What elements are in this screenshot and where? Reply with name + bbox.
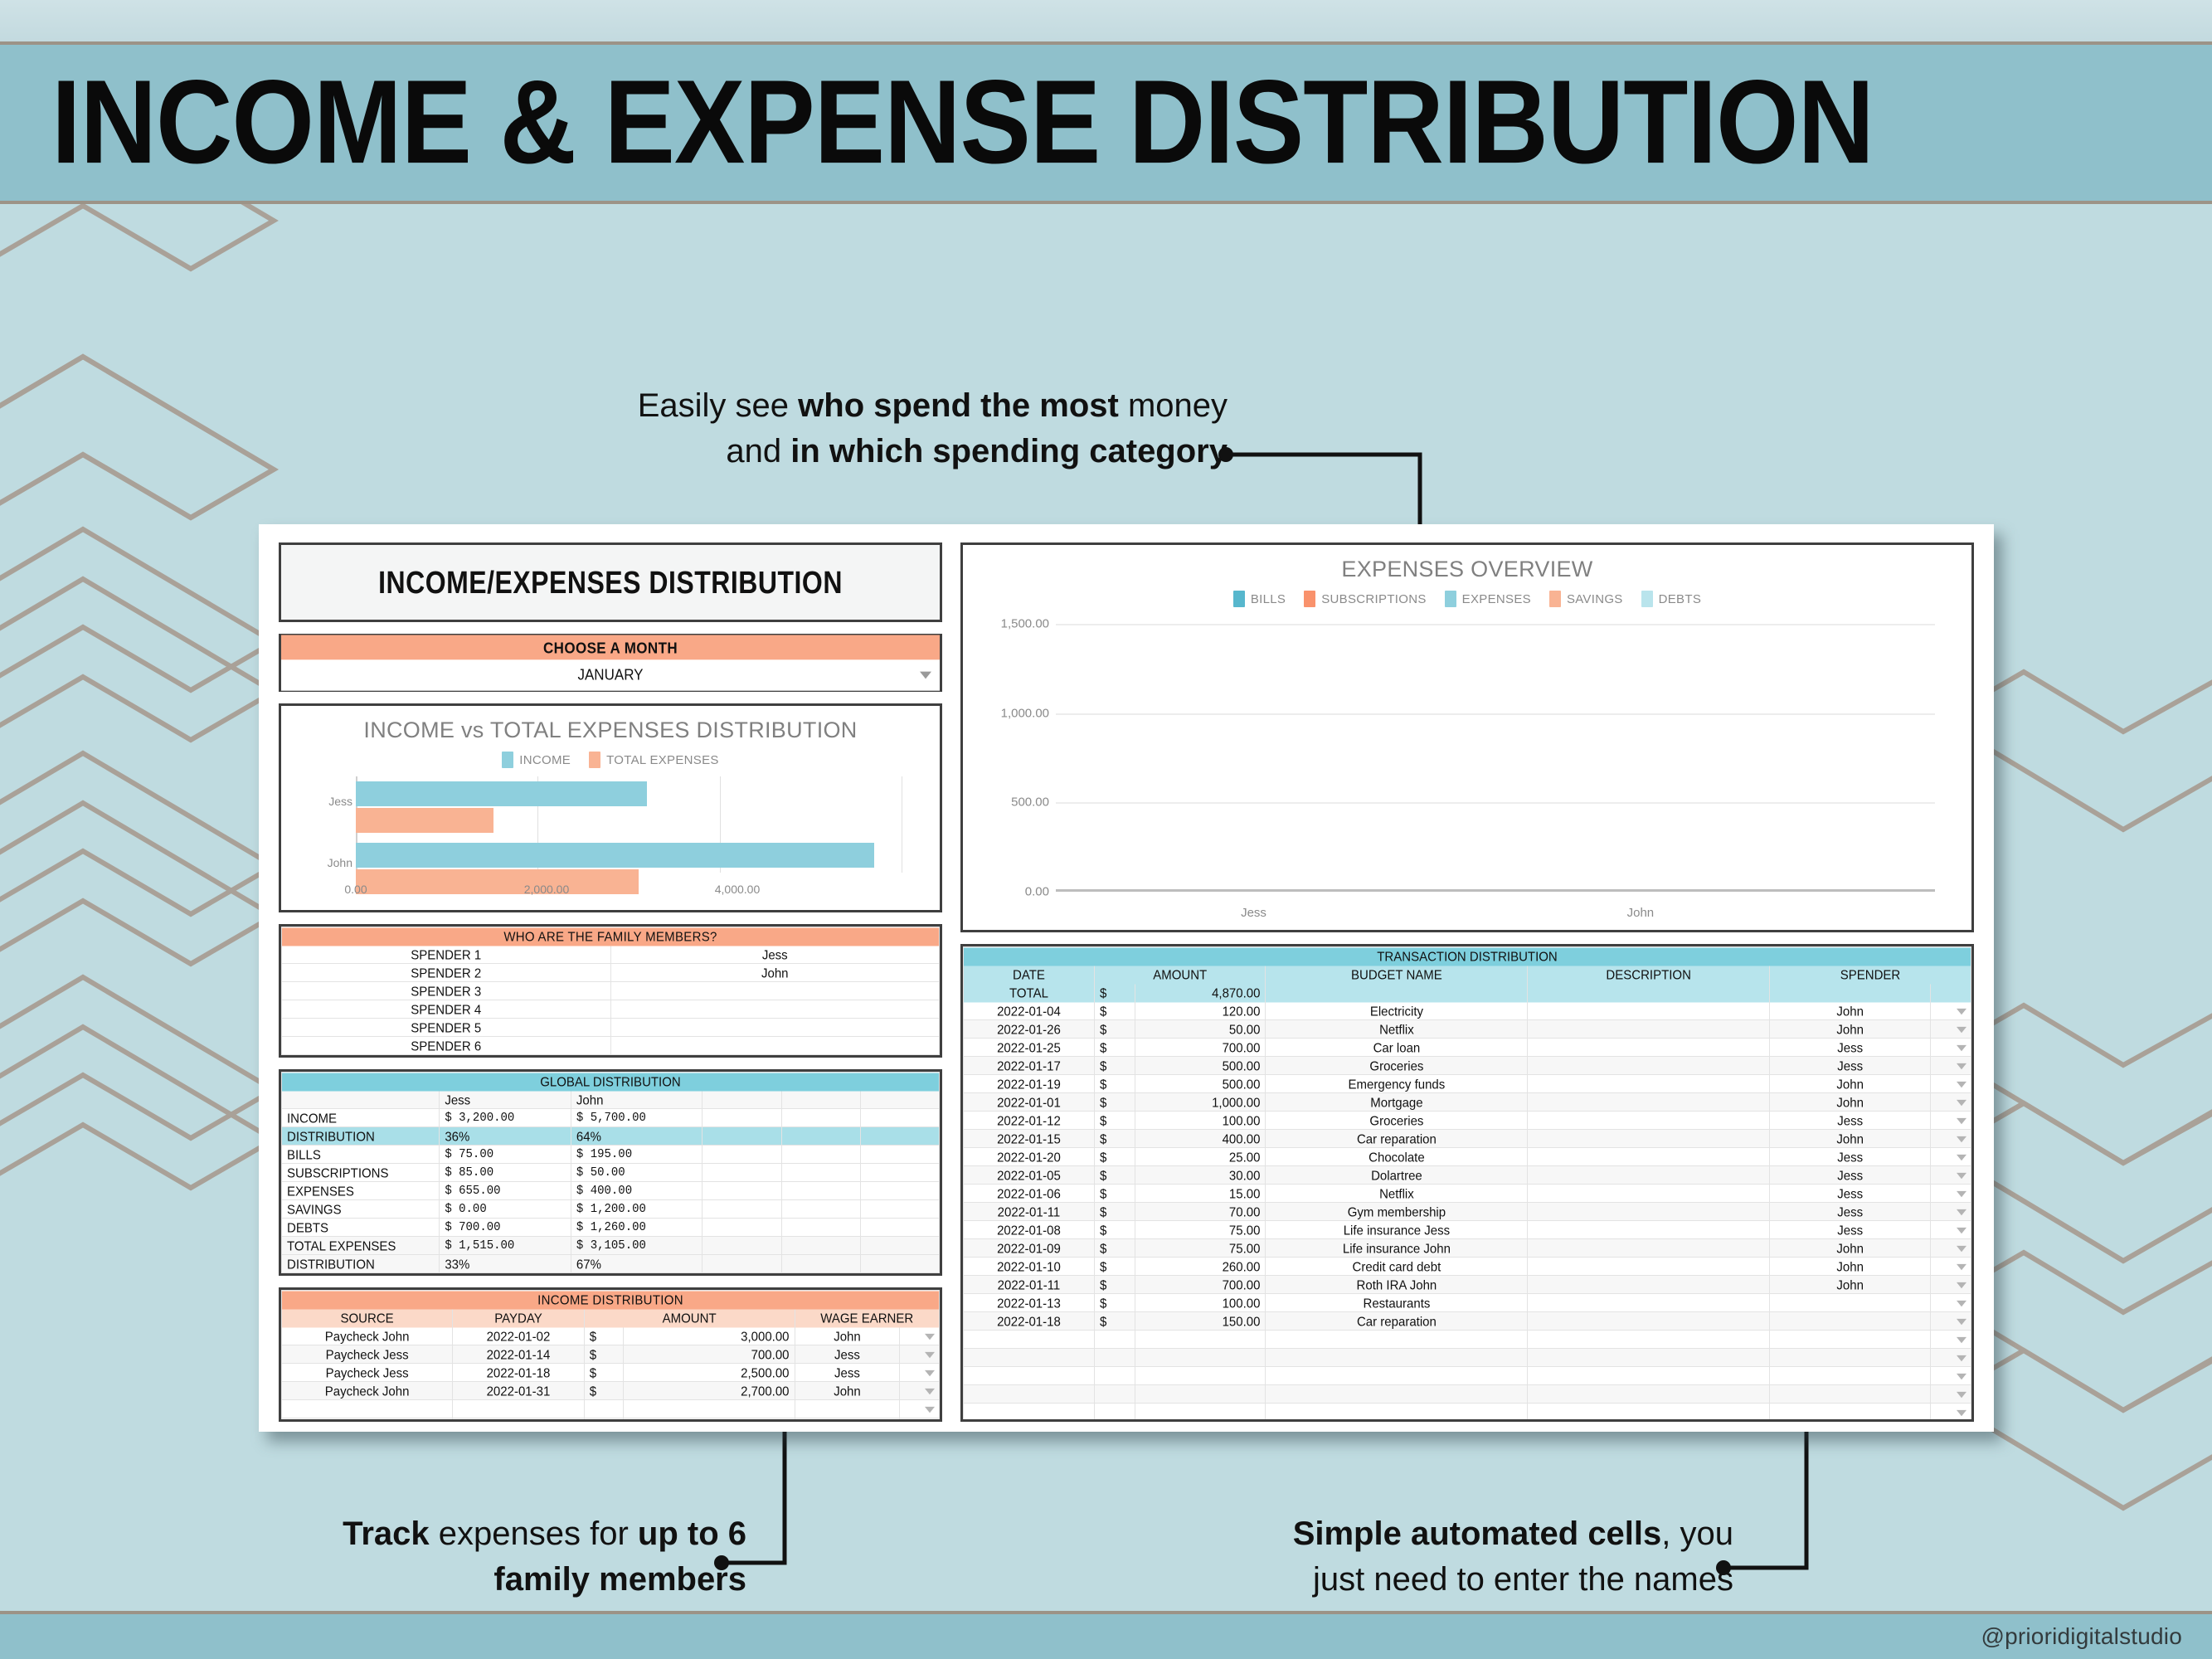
inc-earner[interactable]: John	[795, 1326, 900, 1345]
tx-desc[interactable]	[1528, 1311, 1770, 1331]
chevron-down-icon[interactable]	[920, 672, 931, 679]
inc-amount[interactable]: 2,700.00	[624, 1381, 795, 1400]
tx-amount[interactable]: 700.00	[1135, 1275, 1266, 1294]
table-row: DISTRIBUTION 36% 64%	[282, 1127, 940, 1146]
hbar-category-label: John	[304, 856, 352, 869]
inc-amount[interactable]: 2,500.00	[624, 1363, 795, 1382]
tx-currency: $	[1094, 1092, 1135, 1112]
table-row: 2022-01-04$120.00Electricity John	[964, 1002, 1971, 1020]
spender-label: SPENDER 1	[282, 945, 611, 964]
total-currency: $	[1094, 983, 1135, 1002]
tx-budget[interactable]: Dolartree	[1266, 1165, 1528, 1185]
tx-currency: $	[1094, 1019, 1135, 1039]
callout-top-line1: Easily see who spend the most money	[464, 383, 1228, 429]
tx-amount[interactable]: 260.00	[1135, 1257, 1266, 1276]
tx-desc[interactable]	[1528, 1257, 1770, 1276]
legend-swatch-bills	[1233, 591, 1245, 607]
tx-currency: $	[1094, 1220, 1135, 1239]
spender-value[interactable]	[610, 1000, 940, 1019]
tx-spender[interactable]: Jess	[1769, 1147, 1930, 1166]
col-amount: AMOUNT	[1094, 965, 1266, 984]
tx-currency: $	[1094, 1074, 1135, 1093]
transaction-distribution-table: TRANSACTION DISTRIBUTION DATE AMOUNT BUD…	[960, 944, 1974, 1422]
gd-label: TOTAL EXPENSES	[282, 1236, 440, 1255]
tx-date[interactable]: 2022-01-13	[964, 1293, 1095, 1312]
table-row: SPENDER 4	[282, 1000, 940, 1019]
dropdown-caret-icon[interactable]	[900, 1399, 940, 1418]
tx-currency: $	[1094, 1238, 1135, 1258]
tx-date[interactable]: 2022-01-06	[964, 1184, 1095, 1203]
tx-date[interactable]: 2022-01-19	[964, 1074, 1095, 1093]
tx-budget[interactable]: Groceries	[1266, 1056, 1528, 1075]
table-row: 2022-01-09$75.00Life insurance John John	[964, 1239, 1971, 1258]
tx-spender[interactable]: Jess	[1769, 1056, 1930, 1075]
callout-bl-line1: Track expenses for up to 6	[166, 1511, 746, 1557]
dropdown-caret-icon[interactable]	[1931, 1384, 1971, 1404]
gd-label: DISTRIBUTION	[282, 1254, 440, 1273]
table-row: 2022-01-26$50.00Netflix John	[964, 1020, 1971, 1039]
table-row: Paycheck John 2022-01-31 $ 2,700.00 John	[282, 1382, 940, 1400]
callout-bl-l1-post: expenses for	[430, 1515, 638, 1552]
spender-label: SPENDER 3	[282, 981, 611, 1000]
spender-value[interactable]	[610, 1036, 940, 1055]
gd-jess: 33%	[440, 1254, 571, 1273]
tx-date[interactable]: 2022-01-15	[964, 1129, 1095, 1148]
table-row: Paycheck Jess 2022-01-18 $ 2,500.00 Jess	[282, 1364, 940, 1382]
table-row: 2022-01-17$500.00Groceries Jess	[964, 1057, 1971, 1075]
global-distribution-header: GLOBAL DISTRIBUTION	[282, 1072, 940, 1091]
table-row	[964, 1385, 1971, 1404]
tx-budget[interactable]: Car loan	[1266, 1038, 1528, 1057]
month-picker[interactable]: CHOOSE A MONTH JANUARY	[279, 634, 942, 692]
tx-date[interactable]: 2022-01-04	[964, 1001, 1095, 1020]
callout-bl-l2-bold: family members	[493, 1561, 746, 1598]
dropdown-caret-icon[interactable]	[1931, 1311, 1971, 1331]
tx-amount[interactable]: 100.00	[1135, 1111, 1266, 1130]
table-row: 2022-01-19$500.00Emergency funds John	[964, 1075, 1971, 1093]
tx-budget[interactable]: Life insurance John	[1266, 1238, 1528, 1258]
tx-spender[interactable]: John	[1769, 1238, 1930, 1258]
callout-br-line1: Simple automated cells, you	[1194, 1511, 1733, 1557]
tx-amount[interactable]: 120.00	[1135, 1001, 1266, 1020]
tx-date[interactable]: 2022-01-25	[964, 1038, 1095, 1057]
table-row: SAVINGS $ 0.00 $ 1,200.00	[282, 1200, 940, 1219]
footer-band: @prioridigitalstudio	[0, 1611, 2212, 1659]
inc-earner[interactable]: Jess	[795, 1345, 900, 1364]
vbar-ytick-label: 1,500.00	[989, 617, 1049, 631]
dropdown-caret-icon[interactable]	[1931, 1202, 1971, 1221]
dropdown-caret-icon[interactable]	[1931, 1165, 1971, 1185]
tx-desc[interactable]	[1528, 1129, 1770, 1148]
dropdown-caret-icon[interactable]	[1931, 1147, 1971, 1166]
vbar-category-label: John	[1627, 906, 1655, 920]
dropdown-caret-icon[interactable]	[1931, 1293, 1971, 1312]
inc-currency: $	[584, 1363, 624, 1382]
callout-top-line2: and in which spending category	[464, 429, 1228, 474]
tx-currency: $	[1094, 1111, 1135, 1130]
legend-item: SUBSCRIPTIONS	[1304, 591, 1426, 607]
legend-swatch-subscriptions	[1304, 591, 1315, 607]
dropdown-caret-icon[interactable]	[900, 1363, 940, 1382]
inc-currency: $	[584, 1345, 624, 1364]
tx-spender[interactable]: John	[1769, 1074, 1930, 1093]
tx-currency: $	[1094, 1147, 1135, 1166]
tx-amount[interactable]: 150.00	[1135, 1311, 1266, 1331]
table-row: SUBSCRIPTIONS $ 85.00 $ 50.00	[282, 1164, 940, 1182]
tx-amount[interactable]: 30.00	[1135, 1165, 1266, 1185]
vbar-plot-area: 1,500.00 1,000.00 500.00 0.00 Jess	[1056, 624, 1935, 892]
tx-desc[interactable]	[1528, 1056, 1770, 1075]
inc-payday[interactable]: 2022-01-18	[453, 1363, 585, 1382]
gd-jess: $ 0.00	[440, 1199, 571, 1219]
dropdown-caret-icon[interactable]	[900, 1326, 940, 1345]
inc-source[interactable]: Paycheck John	[282, 1381, 453, 1400]
month-picker-value-cell[interactable]: JANUARY	[281, 659, 940, 690]
expenses-overview-legend: BILLS SUBSCRIPTIONS EXPENSES SAVINGS	[963, 582, 1971, 612]
gd-john: 67%	[571, 1254, 702, 1273]
tx-desc[interactable]	[1528, 1238, 1770, 1258]
legend-label-debts: DEBTS	[1659, 592, 1702, 606]
income-vs-expenses-chart: INCOME vs TOTAL EXPENSES DISTRIBUTION IN…	[279, 703, 942, 912]
tx-budget[interactable]: Car reparation	[1266, 1129, 1528, 1148]
spender-label: SPENDER 4	[282, 1000, 611, 1019]
total-amount: 4,870.00	[1135, 983, 1266, 1002]
spender-value[interactable]	[610, 1018, 940, 1037]
tx-spender[interactable]	[1769, 1293, 1930, 1312]
tx-spender[interactable]: John	[1769, 1129, 1930, 1148]
spender-value[interactable]: John	[610, 963, 940, 982]
inc-source[interactable]: Paycheck Jess	[282, 1363, 453, 1382]
table-row: 2022-01-13$100.00Restaurants	[964, 1294, 1971, 1312]
tx-desc[interactable]	[1528, 1038, 1770, 1057]
table-row: SPENDER 3	[282, 982, 940, 1000]
dropdown-caret-icon[interactable]	[900, 1381, 940, 1400]
inc-amount[interactable]: 700.00	[624, 1345, 795, 1364]
table-row: DISTRIBUTION 33% 67%	[282, 1255, 940, 1273]
dropdown-caret-icon[interactable]	[1931, 1257, 1971, 1276]
table-row	[964, 1367, 1971, 1385]
left-column: INCOME/EXPENSES DISTRIBUTION CHOOSE A MO…	[279, 542, 942, 1422]
tx-spender[interactable]: Jess	[1769, 1202, 1930, 1221]
tx-date[interactable]: 2022-01-05	[964, 1165, 1095, 1185]
global-distribution-table: GLOBAL DISTRIBUTION Jess John INCOME $ 3…	[279, 1069, 942, 1276]
callout-br-l1-post: , you	[1661, 1515, 1733, 1552]
dropdown-caret-icon[interactable]	[900, 1418, 940, 1422]
tx-date[interactable]: 2022-01-08	[964, 1220, 1095, 1239]
dropdown-caret-icon[interactable]	[1931, 1056, 1971, 1075]
table-row: 2022-01-18$150.00Car reparation	[964, 1312, 1971, 1331]
transaction-distribution-header: TRANSACTION DISTRIBUTION	[964, 946, 1971, 966]
legend-item: TOTAL EXPENSES	[589, 752, 719, 768]
income-vs-expenses-chart-title: INCOME vs TOTAL EXPENSES DISTRIBUTION	[281, 706, 940, 743]
tx-amount[interactable]: 75.00	[1135, 1238, 1266, 1258]
tx-currency: $	[1094, 1202, 1135, 1221]
tx-currency: $	[1094, 1293, 1135, 1312]
table-row: INCOME $ 3,200.00 $ 5,700.00	[282, 1109, 940, 1127]
dropdown-caret-icon[interactable]	[1931, 1348, 1971, 1367]
gd-john: $ 1,260.00	[571, 1218, 702, 1237]
dropdown-caret-icon[interactable]	[1931, 1366, 1971, 1385]
legend-swatch-income	[502, 752, 513, 768]
vbar-ytick-label: 0.00	[989, 885, 1049, 899]
hbar-plot-area: Jess John	[356, 776, 902, 873]
tx-budget[interactable]: Chocolate	[1266, 1147, 1528, 1166]
tx-budget[interactable]: Groceries	[1266, 1111, 1528, 1130]
gd-jess: $ 3,200.00	[440, 1108, 571, 1127]
tx-spender[interactable]: John	[1769, 1001, 1930, 1020]
dropdown-caret-icon[interactable]	[1931, 1038, 1971, 1057]
tx-date[interactable]: 2022-01-17	[964, 1056, 1095, 1075]
hbar-bar-income-jess	[356, 781, 647, 806]
tx-spender[interactable]	[1769, 1311, 1930, 1331]
col-payday: PAYDAY	[453, 1308, 585, 1327]
inc-earner[interactable]: Jess	[795, 1363, 900, 1382]
table-row	[964, 1404, 1971, 1422]
tx-desc[interactable]	[1528, 1074, 1770, 1093]
spender-label: SPENDER 5	[282, 1018, 611, 1037]
gd-jess: $ 655.00	[440, 1181, 571, 1200]
table-row: TOTAL EXPENSES $ 1,515.00 $ 3,105.00	[282, 1237, 940, 1255]
tx-amount[interactable]: 400.00	[1135, 1129, 1266, 1148]
table-row: Paycheck John 2022-01-02 $ 3,000.00 John	[282, 1327, 940, 1345]
inc-currency: $	[584, 1326, 624, 1345]
inc-payday[interactable]: 2022-01-02	[453, 1326, 585, 1345]
vbar-gridline	[1056, 624, 1935, 625]
dropdown-caret-icon[interactable]	[1931, 1238, 1971, 1258]
tx-budget[interactable]: Credit card debt	[1266, 1257, 1528, 1276]
tx-date[interactable]: 2022-01-18	[964, 1311, 1095, 1331]
expenses-overview-plot: 1,500.00 1,000.00 500.00 0.00 Jess	[984, 612, 1950, 930]
inc-payday[interactable]: 2022-01-31	[453, 1381, 585, 1400]
table-row: DEBTS $ 700.00 $ 1,260.00	[282, 1219, 940, 1237]
legend-label-income: INCOME	[519, 753, 571, 767]
col-spender: SPENDER	[1769, 965, 1971, 984]
hbar-bar-income-john	[356, 843, 874, 868]
legend-label-total-expenses: TOTAL EXPENSES	[606, 753, 719, 767]
watermark: @prioridigitalstudio	[1981, 1623, 2212, 1650]
inc-payday[interactable]: 2022-01-14	[453, 1345, 585, 1364]
tx-desc[interactable]	[1528, 1202, 1770, 1221]
inc-earner[interactable]: John	[795, 1381, 900, 1400]
tx-spender[interactable]: John	[1769, 1257, 1930, 1276]
table-row: 2022-01-12$100.00Groceries Jess	[964, 1112, 1971, 1130]
tx-date[interactable]: 2022-01-09	[964, 1238, 1095, 1258]
table-row: 2022-01-11$700.00Roth IRA John John	[964, 1276, 1971, 1294]
vbar-gridline	[1056, 802, 1935, 804]
callout-bl-l1-bold2: up to 6	[638, 1515, 746, 1552]
tx-budget[interactable]: Mortgage	[1266, 1092, 1528, 1112]
spender-label: SPENDER 6	[282, 1036, 611, 1055]
tx-amount[interactable]: 500.00	[1135, 1056, 1266, 1075]
tx-desc[interactable]	[1528, 1220, 1770, 1239]
tx-desc[interactable]	[1528, 1184, 1770, 1203]
inc-source[interactable]: Paycheck John	[282, 1326, 453, 1345]
income-vs-expenses-legend: INCOME TOTAL EXPENSES	[281, 743, 940, 773]
callout-top-l1-pre: Easily see	[638, 387, 798, 424]
gd-john: $ 400.00	[571, 1181, 702, 1200]
gd-jess: $ 85.00	[440, 1163, 571, 1182]
tx-date[interactable]: 2022-01-26	[964, 1019, 1095, 1039]
table-row: 2022-01-01$1,000.00Mortgage John	[964, 1093, 1971, 1112]
dropdown-caret-icon[interactable]	[1931, 1220, 1971, 1239]
tx-budget[interactable]: Netflix	[1266, 1184, 1528, 1203]
col-date: DATE	[964, 965, 1095, 984]
vbar-baseline	[1056, 889, 1935, 892]
tx-currency: $	[1094, 1257, 1135, 1276]
dropdown-caret-icon[interactable]	[1931, 1092, 1971, 1112]
table-row: Paycheck Jess 2022-01-14 $ 700.00 Jess	[282, 1345, 940, 1364]
inc-currency: $	[584, 1381, 624, 1400]
col-wage-earner: WAGE EARNER	[795, 1308, 939, 1327]
legend-item: BILLS	[1233, 591, 1286, 607]
table-row: 2022-01-10$260.00Credit card debt John	[964, 1258, 1971, 1276]
dropdown-caret-icon[interactable]	[1931, 1403, 1971, 1422]
tx-date[interactable]: 2022-01-12	[964, 1111, 1095, 1130]
tx-currency: $	[1094, 1056, 1135, 1075]
inc-amount[interactable]: 3,000.00	[624, 1326, 795, 1345]
legend-label-expenses: EXPENSES	[1462, 592, 1531, 606]
dropdown-caret-icon[interactable]	[1931, 1001, 1971, 1020]
dropdown-caret-icon[interactable]	[1931, 1129, 1971, 1148]
dropdown-caret-icon[interactable]	[1931, 1019, 1971, 1039]
inc-source[interactable]: Paycheck Jess	[282, 1345, 453, 1364]
dropdown-caret-icon[interactable]	[1931, 1330, 1971, 1349]
table-row	[282, 1400, 940, 1418]
tx-date[interactable]: 2022-01-11	[964, 1202, 1095, 1221]
tx-amount[interactable]: 700.00	[1135, 1038, 1266, 1057]
tx-spender[interactable]: John	[1769, 1275, 1930, 1294]
tx-amount[interactable]: 1,000.00	[1135, 1092, 1266, 1112]
tx-budget[interactable]: Gym membership	[1266, 1202, 1528, 1221]
tx-currency: $	[1094, 1038, 1135, 1057]
callout-top-l2-pre: and	[726, 433, 790, 469]
tx-desc[interactable]	[1528, 1165, 1770, 1185]
legend-swatch-expenses	[1445, 591, 1456, 607]
spender-value[interactable]: Jess	[610, 945, 940, 964]
tx-budget[interactable]: Car reparation	[1266, 1311, 1528, 1331]
tx-date[interactable]: 2022-01-01	[964, 1092, 1095, 1112]
tx-date[interactable]: 2022-01-10	[964, 1257, 1095, 1276]
total-label: TOTAL	[964, 983, 1095, 1002]
vbar-ytick-label: 500.00	[989, 795, 1049, 810]
table-row	[282, 1418, 940, 1423]
gd-col-john: John	[571, 1090, 702, 1109]
tx-desc[interactable]	[1528, 1293, 1770, 1312]
tx-spender[interactable]: Jess	[1769, 1038, 1930, 1057]
gd-col-jess: Jess	[440, 1090, 571, 1109]
tx-amount[interactable]: 70.00	[1135, 1202, 1266, 1221]
tx-budget[interactable]: Emergency funds	[1266, 1074, 1528, 1093]
gd-john: $ 195.00	[571, 1145, 702, 1164]
hbar-category-label: Jess	[304, 795, 352, 808]
tx-date[interactable]: 2022-01-11	[964, 1275, 1095, 1294]
callout-top-l1-post: money	[1119, 387, 1228, 424]
tx-amount[interactable]: 25.00	[1135, 1147, 1266, 1166]
tx-desc[interactable]	[1528, 1275, 1770, 1294]
tx-amount[interactable]: 15.00	[1135, 1184, 1266, 1203]
table-row: 2022-01-20$25.00Chocolate Jess	[964, 1148, 1971, 1166]
spender-value[interactable]	[610, 981, 940, 1000]
tx-budget[interactable]: Life insurance Jess	[1266, 1220, 1528, 1239]
legend-item: DEBTS	[1641, 591, 1702, 607]
tx-spender[interactable]: John	[1769, 1092, 1930, 1112]
vbar-ytick-label: 1,000.00	[989, 706, 1049, 720]
callout-br-l1-bold: Simple automated cells	[1293, 1515, 1662, 1552]
gd-label: SAVINGS	[282, 1199, 440, 1219]
gd-jess: $ 1,515.00	[440, 1236, 571, 1255]
hbar-xtick-label: 4,000.00	[715, 883, 761, 896]
income-distribution-header: INCOME DISTRIBUTION	[282, 1290, 940, 1309]
dropdown-caret-icon[interactable]	[1931, 1074, 1971, 1093]
table-header-row: SOURCE PAYDAY AMOUNT WAGE EARNER	[282, 1309, 940, 1327]
col-source: SOURCE	[282, 1308, 453, 1327]
tx-spender[interactable]: John	[1769, 1019, 1930, 1039]
tx-amount[interactable]: 500.00	[1135, 1074, 1266, 1093]
dropdown-caret-icon[interactable]	[900, 1345, 940, 1364]
family-members-header: WHO ARE THE FAMILY MEMBERS?	[282, 927, 940, 946]
tx-spender[interactable]: Jess	[1769, 1220, 1930, 1239]
tx-amount[interactable]: 50.00	[1135, 1019, 1266, 1039]
tx-budget[interactable]: Electricity	[1266, 1001, 1528, 1020]
gd-john: $ 5,700.00	[571, 1108, 702, 1127]
callout-top-l2-bold: in which spending category	[790, 433, 1228, 469]
tx-desc[interactable]	[1528, 1001, 1770, 1020]
legend-label-subscriptions: SUBSCRIPTIONS	[1321, 592, 1426, 606]
callout-bottom-right: Simple automated cells, you just need to…	[1194, 1511, 1733, 1603]
callout-br-line2: just need to enter the names	[1194, 1557, 1733, 1603]
income-distribution-table: INCOME DISTRIBUTION SOURCE PAYDAY AMOUNT…	[279, 1287, 942, 1422]
tx-budget[interactable]: Netflix	[1266, 1019, 1528, 1039]
legend-item: SAVINGS	[1549, 591, 1623, 607]
callout-bottom-left: Track expenses for up to 6 family member…	[166, 1511, 746, 1603]
tx-spender[interactable]: Jess	[1769, 1111, 1930, 1130]
table-header-row: DATE AMOUNT BUDGET NAME DESCRIPTION SPEN…	[964, 966, 1971, 984]
dropdown-caret-icon[interactable]	[1931, 1184, 1971, 1203]
tx-spender[interactable]: Jess	[1769, 1165, 1930, 1185]
page-title: INCOME & EXPENSE DISTRIBUTION	[0, 63, 1874, 182]
hbar-bar-expenses-john	[356, 869, 639, 894]
tx-desc[interactable]	[1528, 1092, 1770, 1112]
tx-date[interactable]: 2022-01-20	[964, 1147, 1095, 1166]
tx-budget[interactable]: Roth IRA John	[1266, 1275, 1528, 1294]
table-row	[964, 1349, 1971, 1367]
legend-item: EXPENSES	[1445, 591, 1531, 607]
tx-desc[interactable]	[1528, 1147, 1770, 1166]
right-column: EXPENSES OVERVIEW BILLS SUBSCRIPTIONS EX…	[960, 542, 1974, 1422]
table-row: Jess John	[282, 1091, 940, 1109]
slide-canvas: INCOME & EXPENSE DISTRIBUTION Easily see…	[0, 0, 2212, 1659]
col-description: DESCRIPTION	[1528, 965, 1770, 984]
tx-spender[interactable]: Jess	[1769, 1184, 1930, 1203]
tx-desc[interactable]	[1528, 1111, 1770, 1130]
hbar-xtick-label: 0.00	[344, 883, 367, 896]
dropdown-caret-icon[interactable]	[1931, 1111, 1971, 1130]
tx-amount[interactable]: 100.00	[1135, 1293, 1266, 1312]
gd-jess: $ 700.00	[440, 1218, 571, 1237]
gd-jess: $ 75.00	[440, 1145, 571, 1164]
table-row: 2022-01-06$15.00Netflix Jess	[964, 1185, 1971, 1203]
gd-label: BILLS	[282, 1145, 440, 1164]
sheet-title-text: INCOME/EXPENSES DISTRIBUTION	[378, 564, 843, 601]
tx-currency: $	[1094, 1275, 1135, 1294]
tx-currency: $	[1094, 1311, 1135, 1331]
tx-desc[interactable]	[1528, 1019, 1770, 1039]
tx-amount[interactable]: 75.00	[1135, 1220, 1266, 1239]
dropdown-caret-icon[interactable]	[1931, 1275, 1971, 1294]
gd-label: SUBSCRIPTIONS	[282, 1163, 440, 1182]
tx-budget[interactable]: Restaurants	[1266, 1293, 1528, 1312]
col-amount: AMOUNT	[584, 1308, 795, 1327]
